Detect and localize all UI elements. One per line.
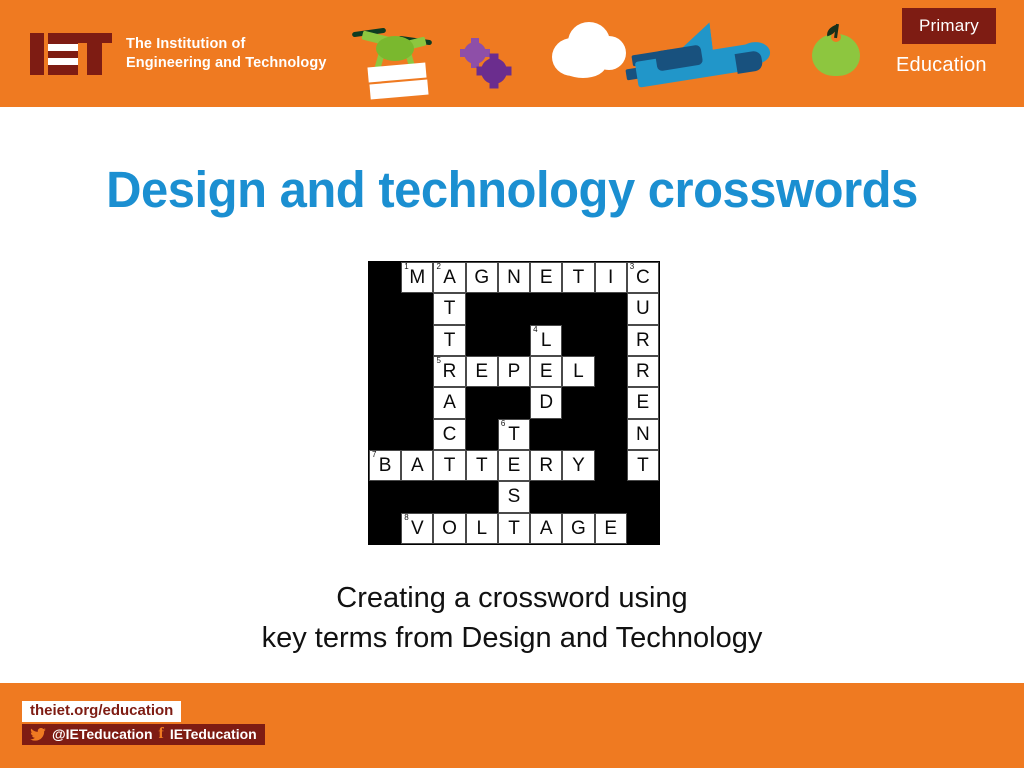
crossword-letter: G [571,519,586,538]
crossword-block [562,387,594,418]
crossword-cell[interactable]: T [627,450,659,481]
crossword-block [466,325,498,356]
crossword-block [369,262,401,293]
facebook-f-icon[interactable]: f [159,726,164,742]
crossword-cell[interactable]: A [433,387,465,418]
crossword-letter: D [539,393,553,412]
crossword-letter: E [540,268,553,287]
crossword-clue-number: 3 [630,263,634,272]
iet-monogram-icon [30,33,112,75]
crossword-cell[interactable]: N [498,262,530,293]
crossword-cell[interactable]: T [433,450,465,481]
crossword-clue-number: 4 [533,326,537,335]
crossword-cell[interactable]: 3C [627,262,659,293]
crossword-letter: T [508,425,520,444]
iet-logo-text: The Institution of Engineering and Techn… [126,35,327,73]
crossword-block [562,419,594,450]
crossword-block [369,356,401,387]
apple-icon [812,24,860,76]
primary-badge-label: Primary [919,16,979,36]
crossword-letter: E [475,362,488,381]
crossword-block [530,293,562,324]
crossword-letter: U [636,299,650,318]
crossword-block [627,481,659,512]
crossword-block [562,293,594,324]
crossword-clue-number: 2 [436,263,440,272]
crossword-cell[interactable]: 6T [498,419,530,450]
crossword-letter: C [443,425,457,444]
crossword-cell[interactable]: L [466,513,498,544]
crossword-cell[interactable]: T [433,325,465,356]
crossword-clue-number: 1 [404,263,408,272]
iet-logo-line2: Engineering and Technology [126,54,327,73]
crossword-letter: T [573,268,585,287]
crossword-block [530,419,562,450]
crossword-cell[interactable]: I [595,262,627,293]
crossword-block [369,293,401,324]
crossword-letter: T [476,456,488,475]
crossword-letter: A [443,268,456,287]
crossword-cell[interactable]: E [466,356,498,387]
crossword-letter: I [608,268,613,287]
crossword-clue-number: 7 [372,451,376,460]
crossword-block [369,513,401,544]
facebook-handle[interactable]: IETeducation [170,726,257,742]
subtitle-line2: key terms from Design and Technology [0,618,1024,658]
crossword-letter: E [604,519,617,538]
crossword-letter: V [411,519,424,538]
crossword-block [401,481,433,512]
social-handles: @IETeducation f IETeducation [22,724,265,745]
crossword-block [595,450,627,481]
crossword-letter: A [411,456,424,475]
crossword-cell[interactable]: R [530,450,562,481]
crossword-block [498,325,530,356]
crossword-block [595,356,627,387]
crossword-letter: R [636,331,650,350]
crossword-letter: L [476,519,487,538]
crossword-cell[interactable]: U [627,293,659,324]
twitter-bird-icon[interactable] [30,728,46,741]
crossword-cell[interactable]: 5R [433,356,465,387]
crossword-block [595,481,627,512]
crossword-block [401,356,433,387]
crossword-cell[interactable]: 4L [530,325,562,356]
crossword-cell[interactable]: P [498,356,530,387]
crossword-block [595,293,627,324]
crossword-cell[interactable]: 8V [401,513,433,544]
crossword-cell[interactable]: D [530,387,562,418]
crossword-block [595,419,627,450]
crossword-block [627,513,659,544]
subtitle: Creating a crossword using key terms fro… [0,578,1024,658]
crossword-cell[interactable]: L [562,356,594,387]
crossword-letter: C [636,268,650,287]
crossword-cell[interactable]: N [627,419,659,450]
crossword-cell[interactable]: A [530,513,562,544]
crossword-cell[interactable]: 1M [401,262,433,293]
crossword-clue-number: 5 [436,357,440,366]
crossword-letter: S [508,487,521,506]
crossword-cell[interactable]: G [466,262,498,293]
crossword-cell[interactable]: R [627,356,659,387]
crossword-cell[interactable]: T [562,262,594,293]
space-shuttle-icon [612,18,772,88]
crossword-clue-number: 8 [404,514,408,523]
crossword-block [401,325,433,356]
crossword-cell[interactable]: G [562,513,594,544]
crossword-letter: R [636,362,650,381]
crossword-block [466,419,498,450]
primary-badge: Primary [902,8,996,44]
crossword-letter: T [637,456,649,475]
crossword-cell[interactable]: 7B [369,450,401,481]
crossword-letter: Y [572,456,585,475]
subtitle-line1: Creating a crossword using [0,578,1024,618]
page-title: Design and technology crosswords [20,160,1003,219]
crossword-block [369,387,401,418]
crossword-block [530,481,562,512]
crossword-letter: L [573,362,584,381]
crossword-cell[interactable]: T [498,513,530,544]
crossword-letter: M [409,268,425,287]
drone-icon [352,18,442,96]
crossword-letter: N [636,425,650,444]
crossword-block [369,325,401,356]
crossword-cell[interactable]: R [627,325,659,356]
crossword-cell[interactable]: A [401,450,433,481]
iet-logo-line1: The Institution of [126,35,327,54]
crossword-letter: T [508,519,520,538]
crossword-letter: A [540,519,553,538]
crossword-cell[interactable]: S [498,481,530,512]
crossword-cell[interactable]: E [530,356,562,387]
website-url-text: theiet.org/education [30,702,173,719]
header-bar: The Institution of Engineering and Techn… [0,0,1024,107]
website-url[interactable]: theiet.org/education [22,701,181,722]
crossword-letter: T [444,456,456,475]
crossword-letter: P [508,362,521,381]
crossword-letter: O [442,519,457,538]
crossword-block [401,387,433,418]
crossword-letter: L [541,331,552,350]
crossword-cell[interactable]: 2A [433,262,465,293]
crossword-cell[interactable]: E [595,513,627,544]
education-label: Education [896,54,987,77]
crossword-letter: T [444,331,456,350]
footer-bar: theiet.org/education @IETeducation f IET… [0,683,1024,768]
crossword-block [562,481,594,512]
crossword-letter: T [444,299,456,318]
crossword-letter: N [507,268,521,287]
crossword-cell[interactable]: T [466,450,498,481]
twitter-handle[interactable]: @IETeducation [52,726,153,742]
crossword-cell[interactable]: E [530,262,562,293]
crossword-letter: G [474,268,489,287]
crossword-block [466,481,498,512]
iet-logo: The Institution of Engineering and Techn… [30,33,327,75]
crossword-cell[interactable]: E [627,387,659,418]
crossword-block [369,481,401,512]
crossword-letter: E [637,393,650,412]
crossword-letter: B [379,456,392,475]
crossword-letter: E [508,456,521,475]
crossword-block [498,293,530,324]
crossword-letter: R [443,362,457,381]
crossword-cell[interactable]: O [433,513,465,544]
crossword-letter: A [443,393,456,412]
crossword-block [369,419,401,450]
gears-icon [464,42,518,86]
crossword-clue-number: 6 [501,420,505,429]
crossword-cell[interactable]: T [433,293,465,324]
crossword-grid[interactable]: 1M2AGNETI3CTUT4LR5REPELRADEC6TN7BATTERYT… [368,261,660,545]
crossword-cell[interactable]: Y [562,450,594,481]
crossword-block [401,419,433,450]
crossword-cell[interactable]: C [433,419,465,450]
crossword-block [562,325,594,356]
crossword-cell[interactable]: E [498,450,530,481]
crossword-letter: R [539,456,553,475]
crossword-block [401,293,433,324]
crossword-block [466,293,498,324]
crossword-block [433,481,465,512]
crossword-block [466,387,498,418]
crossword-block [595,387,627,418]
crossword-letter: E [540,362,553,381]
crossword-block [498,387,530,418]
crossword-block [595,325,627,356]
